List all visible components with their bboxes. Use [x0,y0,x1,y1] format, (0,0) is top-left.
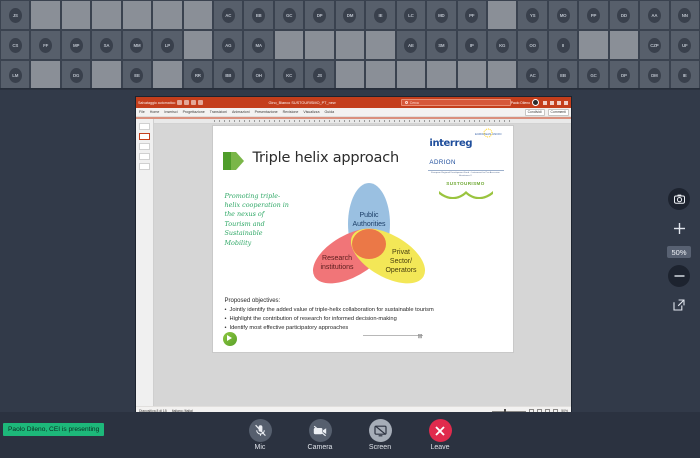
participant-video [458,61,486,89]
participant-video [184,31,212,59]
participant-video [153,1,181,29]
participant-initials: DP [617,68,630,83]
participant-initials: DG [70,68,83,83]
document-title: Gino_Bianco SUSTOURISMO_PT_new [203,101,400,105]
participant-tile[interactable]: AG [213,30,243,60]
participant-initials: BB [222,68,235,83]
participant-video [92,61,120,89]
menu-item-home[interactable]: Home [150,110,160,114]
participant-video [123,1,151,29]
snapshot-icon[interactable] [668,188,690,210]
participant-tile[interactable] [30,0,60,30]
participant-tile[interactable]: IE [365,0,395,30]
ruler-tick [214,120,215,122]
sustourismo-swoosh-icon [438,188,494,199]
participant-tile[interactable]: MD [426,0,456,30]
objectives-block: Proposed objectives: Jointly identify th… [225,298,501,334]
participant-video [336,31,364,59]
ruler-tick [259,120,260,122]
participant-tile[interactable]: PP [578,0,608,30]
participant-tile[interactable]: DP [304,0,334,30]
participant-initials: MP [70,38,83,53]
ruler-tick [444,120,445,122]
participant-tile[interactable] [152,60,182,90]
search-icon [405,101,408,104]
menu-item-revisione[interactable]: Revisione [283,110,299,114]
participant-tile[interactable] [365,60,395,90]
slide-canvas-area: Triple helix approach interreg ADRION [154,119,571,407]
participant-tile[interactable] [426,60,456,90]
promo-text: Promoting triple-helix cooperation in th… [225,192,291,248]
venn-label-top: Public [359,212,379,219]
participant-initials: JS [313,68,326,83]
ruler-tick [469,120,470,122]
ruler-tick [379,120,380,122]
shared-screen-stage: Salvataggio automatico Gino_Bianco SUSTO… [0,90,700,458]
participant-tile[interactable]: AC [213,0,243,30]
participant-tile[interactable]: IP [457,30,487,60]
ruler-tick [364,120,365,122]
objective-item: Identify most effective participatory ap… [225,324,501,333]
eu-flag-block: EUROPEAN UNION [475,133,501,137]
participant-tile[interactable]: MA [243,30,273,60]
participant-initials: NN [678,8,691,23]
menu-item-guida[interactable]: Guida [324,110,334,114]
screen-view-controls[interactable]: 50% [666,188,692,316]
objective-item: Jointly identify the added value of trip… [225,306,501,315]
participant-initials: OH [252,68,265,83]
ruler-tick [374,120,375,122]
participant-initials: GC [587,68,600,83]
ruler-tick [399,120,400,122]
participant-tile[interactable]: PF [457,0,487,30]
participant-initials: LM [9,68,22,83]
redo-icon[interactable] [191,100,196,105]
participant-video [488,61,516,89]
screen-label: Screen [357,444,403,451]
participant-initials: JS [9,8,22,23]
close-icon[interactable] [429,419,452,442]
participant-video [488,1,516,29]
participant-tile[interactable]: DM [639,60,669,90]
participant-tile[interactable] [578,30,608,60]
zoom-level-label: 50% [667,246,690,258]
participant-initials: DP [313,8,326,23]
ruler-tick [344,120,345,122]
venn-label-left: Research [322,255,352,262]
ruler-tick [454,120,455,122]
participant-video [92,1,120,29]
slide-thumbnail[interactable] [139,153,150,160]
ruler-tick [234,120,235,122]
ruler-tick [424,120,425,122]
ruler-tick [289,120,290,122]
ppt-menubar[interactable]: FileHomeInserisciProgettazioneTransizion… [136,108,571,117]
ruler-tick [464,120,465,122]
participant-tile[interactable] [183,30,213,60]
participant-initials: LC [404,8,417,23]
minimize-button[interactable] [550,101,554,105]
participant-initials: MO [557,8,570,23]
menu-item-animazioni[interactable]: Animazioni [232,110,250,114]
ppt-titlebar: Salvataggio automatico Gino_Bianco SUSTO… [136,97,571,108]
participant-initials: AC [526,68,539,83]
participant-initials: FF [39,38,52,53]
slide-underline [363,335,423,336]
participant-tile[interactable] [183,0,213,30]
ruler-tick [284,120,285,122]
interreg-logo: interreg ADRION EUROPEAN UNION [428,133,504,169]
ruler-tick [354,120,355,122]
participant-initials: II [557,38,570,53]
ruler-tick [369,120,370,122]
ruler-tick [224,120,225,122]
participant-video [397,61,425,89]
participant-tile[interactable]: DM [335,0,365,30]
participant-initials: YS [526,8,539,23]
participant-video [31,61,59,89]
mic-off-icon[interactable] [249,419,272,442]
ruler-tick [504,120,505,122]
ruler-tick [494,120,495,122]
ruler-tick [389,120,390,122]
venn-label-right-2: Sector/ [389,258,411,265]
ruler-tick [404,120,405,122]
participant-tile[interactable]: AC [517,60,547,90]
participant-video [427,61,455,89]
user-name: Paolo Dileno [511,101,530,105]
menu-item-file[interactable]: File [139,110,145,114]
ruler-tick [304,120,305,122]
presenting-banner: Paolo Dileno, CEI is presenting [3,423,104,436]
participant-initials: DD [617,8,630,23]
participant-tile[interactable]: UF [670,30,700,60]
undo-icon[interactable] [184,100,189,105]
participant-initials: CS [9,38,22,53]
participant-initials: MD [435,8,448,23]
ruler-tick [329,120,330,122]
participant-tile[interactable]: RR [183,60,213,90]
slide-thumbnail-selected[interactable] [139,133,150,140]
venn-center-overlap [352,229,386,259]
participant-initials: MM [130,38,143,53]
ruler-tick [229,120,230,122]
participant-tile[interactable] [91,0,121,30]
ruler-tick [479,120,480,122]
slide-title: Triple helix approach [253,150,400,166]
ruler-tick [324,120,325,122]
participant-tile[interactable]: OH [243,60,273,90]
ruler-tick [294,120,295,122]
participant-initials: OO [526,38,539,53]
participant-tile[interactable] [396,60,426,90]
participant-video [62,1,90,29]
participant-tile[interactable] [274,30,304,60]
screen-share-icon[interactable] [369,419,392,442]
menu-right-group: CondividiCommenti [525,109,571,116]
participant-tile[interactable]: DG [61,60,91,90]
ruler-tick [264,120,265,122]
ruler-tick [239,120,240,122]
meeting-control-bar[interactable]: MicCameraScreenLeave [0,412,700,458]
participant-video [336,61,364,89]
search-box[interactable]: Cerca [401,99,511,106]
participant-initials: PF [465,8,478,23]
ruler-tick [489,120,490,122]
participant-video [153,61,181,89]
menu-item-inserisci[interactable]: Inserisci [164,110,177,114]
camera-label: Camera [297,444,343,451]
slide-thumbnail[interactable] [139,163,150,170]
ruler-tick [254,120,255,122]
ruler-tick [244,120,245,122]
search-placeholder: Cerca [410,101,419,105]
participant-initials: AE [404,38,417,53]
participant-video [275,31,303,59]
participant-tile[interactable] [152,0,182,30]
participant-tile[interactable]: OO [517,30,547,60]
ruler-tick [429,120,430,122]
participant-video [31,1,59,29]
participant-tile[interactable]: GC [578,60,608,90]
participant-tile[interactable]: GC [274,0,304,30]
participant-tile[interactable]: MM [122,30,152,60]
participant-initials: LP [161,38,174,53]
commenti-button[interactable]: Commenti [548,109,569,116]
participant-initials: CZP [648,38,661,53]
participant-tile[interactable]: LP [152,30,182,60]
participant-tile[interactable]: LC [396,0,426,30]
participant-tile[interactable] [91,60,121,90]
participant-tile[interactable] [487,60,517,90]
menu-item-visualizza[interactable]: Visualizza [303,110,319,114]
participant-video [305,31,333,59]
participant-initials: KG [496,38,509,53]
menu-item-presentazione[interactable]: Presentazione [255,110,278,114]
slide-surface[interactable]: Triple helix approach interreg ADRION [212,125,514,353]
text-cursor-icon: ⊞ [418,333,423,340]
slide-thumbnail[interactable] [139,143,150,150]
user-account[interactable]: Paolo Dileno [511,99,569,106]
participant-tile[interactable]: MO [548,0,578,30]
quick-access-toolbar[interactable] [177,100,203,105]
participant-initials: UF [678,38,691,53]
ruler-tick [274,120,275,122]
save-icon[interactable] [177,100,182,105]
participant-tile[interactable]: DP [609,60,639,90]
participant-initials: SM [435,38,448,53]
avatar[interactable] [532,99,539,106]
menu-item-transizioni[interactable]: Transizioni [210,110,227,114]
ruler-tick [349,120,350,122]
logo-block: interreg ADRION EUROPEAN UNION European … [428,133,504,205]
ruler-tick [279,120,280,122]
participant-tile[interactable]: DD [609,0,639,30]
participant-tile[interactable] [122,0,152,30]
participant-initials: PP [587,8,600,23]
participant-initials: GC [283,8,296,23]
participant-initials: DM [343,8,356,23]
ruler-tick [474,120,475,122]
zoom-out-button[interactable] [668,265,690,287]
ruler-tick [414,120,415,122]
participant-tile[interactable]: LM [0,60,30,90]
participant-initials: IE [678,68,691,83]
adrion-wordmark: ADRION [429,159,455,166]
ruler-tick [484,120,485,122]
chevron-right-icon [223,150,245,172]
sustourismo-wordmark: SUSTOURISMO [428,181,504,186]
participant-initials: EE [130,68,143,83]
participant-initials: KC [283,68,296,83]
condividi-button[interactable]: Condividi [525,109,545,116]
participant-tile[interactable]: BB [213,60,243,90]
participant-tile[interactable]: SM [426,30,456,60]
ruler-tick [434,120,435,122]
window-controls[interactable] [541,101,568,105]
participant-video [366,61,394,89]
mic-button[interactable]: Mic [237,419,283,451]
ruler-tick [384,120,385,122]
participant-initials: RR [191,68,204,83]
participant-tile[interactable]: NN [670,0,700,30]
horizontal-ruler [154,119,571,124]
participant-tile[interactable]: EB [548,60,578,90]
ruler-tick [309,120,310,122]
participant-tile[interactable] [457,60,487,90]
camera-off-icon[interactable] [309,419,332,442]
participant-initials: AA [648,8,661,23]
participant-initials: EB [252,8,265,23]
ppt-body: Triple helix approach interreg ADRION [136,119,571,407]
slide-thumbnail[interactable] [139,123,150,130]
ruler-tick [334,120,335,122]
participant-tile[interactable] [487,0,517,30]
leave-label: Leave [417,444,463,451]
participant-tile[interactable]: YS [517,0,547,30]
participant-tile[interactable]: KC [274,60,304,90]
powerpoint-window[interactable]: Salvataggio automatico Gino_Bianco SUSTO… [135,96,572,416]
ruler-tick [314,120,315,122]
participant-tile[interactable]: MP [61,30,91,60]
objectives-header: Proposed objectives: [225,298,501,304]
leave-button[interactable]: Leave [417,419,463,451]
venn-diagram: Public Authorities Research institutions… [309,182,429,294]
participant-tile[interactable]: FF [30,30,60,60]
participant-video [366,31,394,59]
participant-initials: DM [648,68,661,83]
ruler-tick [449,120,450,122]
ruler-tick [509,120,510,122]
ruler-tick [419,120,420,122]
close-button[interactable] [564,101,568,105]
participant-grid[interactable]: JSACEBGCDPDMIELCMDPFYSMOPPDDAANNCSFFMPSA… [0,0,700,90]
participant-tile[interactable] [335,60,365,90]
participant-tile[interactable]: II [548,30,578,60]
objectives-list: Jointly identify the added value of trip… [225,306,501,333]
ruler-tick [269,120,270,122]
fullscreen-icon[interactable] [668,294,690,316]
ruler-tick [394,120,395,122]
participant-tile[interactable]: JS [304,60,334,90]
participant-initials: IE [374,8,387,23]
participant-tile[interactable]: CS [0,30,30,60]
interreg-wordmark: interreg [429,138,472,149]
participant-initials: AC [222,8,235,23]
ruler-tick [219,120,220,122]
ruler-tick [499,120,500,122]
ruler-tick [249,120,250,122]
participant-tile[interactable]: EE [122,60,152,90]
venn-label-top-2: Authorities [352,221,386,228]
participant-tile[interactable] [30,60,60,90]
participant-tile[interactable] [304,30,334,60]
participant-tile[interactable]: JS [0,0,30,30]
participant-tile[interactable]: SA [91,30,121,60]
camera-button[interactable]: Camera [297,419,343,451]
participant-initials: EB [557,68,570,83]
venn-label-left-2: institutions [320,264,354,271]
participant-tile[interactable]: EB [243,0,273,30]
participant-tile[interactable] [61,0,91,30]
ribbon-options-icon[interactable] [543,101,547,105]
participant-initials: AG [222,38,235,53]
participant-tile[interactable]: IE [670,60,700,90]
venn-label-right: Privat [392,249,410,256]
participant-initials: MA [252,38,265,53]
screen-button[interactable]: Screen [357,419,403,451]
ruler-tick [319,120,320,122]
ruler-tick [439,120,440,122]
participant-tile[interactable]: KG [487,30,517,60]
ruler-tick [359,120,360,122]
participant-tile[interactable] [335,30,365,60]
slide-thumbnail-pane[interactable] [136,119,154,407]
mic-label: Mic [237,444,283,451]
logo-fine-print: European Regional Development Fund – Ins… [428,170,504,178]
menu-item-progettazione[interactable]: Progettazione [183,110,205,114]
ruler-tick [459,120,460,122]
objective-item: Highlight the contribution of research f… [225,315,501,324]
participant-initials: SA [100,38,113,53]
participant-video [610,31,638,59]
restore-button[interactable] [557,101,561,105]
zoom-in-button[interactable] [668,217,690,239]
ruler-tick [409,120,410,122]
play-marker-icon [223,332,237,346]
participant-video [184,1,212,29]
participant-tile[interactable]: AE [396,30,426,60]
participant-tile[interactable]: AA [639,0,669,30]
participant-tile[interactable] [365,30,395,60]
meeting-app: JSACEBGCDPDMIELCMDPFYSMOPPDDAANNCSFFMPSA… [0,0,700,458]
participant-tile[interactable]: CZP [639,30,669,60]
participant-tile[interactable] [609,30,639,60]
participant-initials: IP [465,38,478,53]
ruler-tick [299,120,300,122]
autosave-label[interactable]: Salvataggio automatico [138,101,175,105]
venn-label-right-3: Operators [385,267,417,274]
participant-video [579,31,607,59]
ruler-tick [339,120,340,122]
